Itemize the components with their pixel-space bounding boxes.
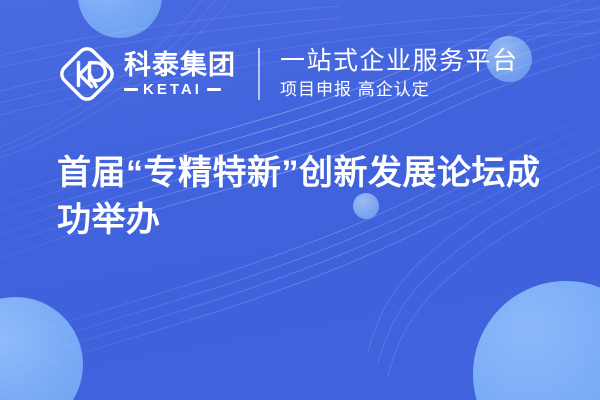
decorative-circle-bottom-left (0, 297, 83, 400)
promo-banner: 科泰集团 KETAI 一站式企业服务平台 项目申报 高企认定 首届“专精特新”创… (0, 0, 600, 400)
tagline-block: 一站式企业服务平台 项目申报 高企认定 (280, 47, 519, 100)
brand-name-cn: 科泰集团 (124, 51, 236, 79)
banner-header: 科泰集团 KETAI 一站式企业服务平台 项目申报 高企认定 (58, 45, 519, 103)
wordmark-rule-left (124, 88, 138, 91)
brand-wordmark: 科泰集团 KETAI (124, 51, 236, 97)
tagline-main: 一站式企业服务平台 (280, 47, 519, 75)
decorative-circle-bottom-right (473, 281, 600, 400)
brand-name-en-row: KETAI (124, 82, 236, 97)
ketai-logo-icon (58, 45, 116, 103)
tagline-sub: 项目申报 高企认定 (280, 80, 519, 100)
headline-title: 首届“专精特新”创新发展论坛成功举办 (57, 150, 562, 244)
decorative-circle-top-left (78, 0, 162, 38)
brand-name-en: KETAI (143, 82, 202, 97)
wordmark-rule-right (207, 88, 221, 91)
header-divider (258, 48, 260, 100)
